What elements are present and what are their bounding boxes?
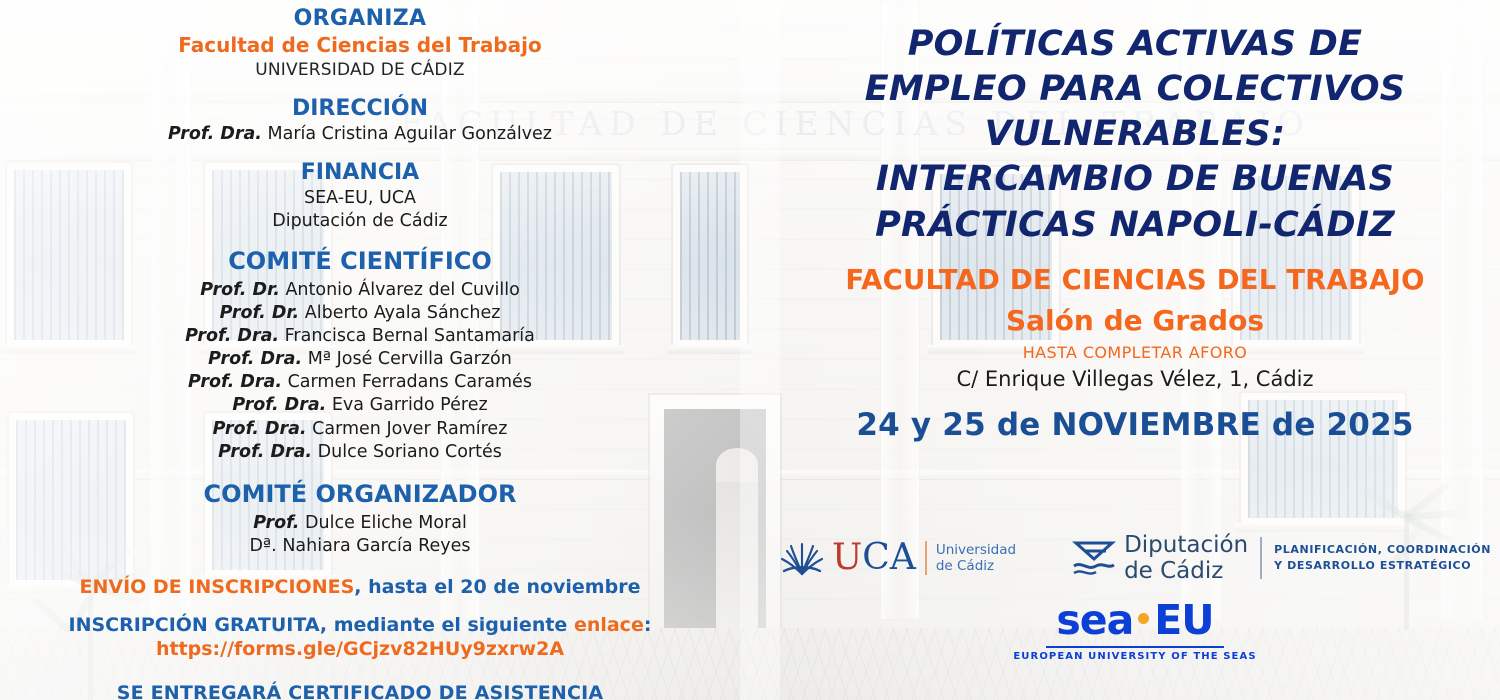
seaeu-tagline: EUROPEAN UNIVERSITY OF THE SEAS bbox=[1013, 651, 1256, 662]
member-title: Dª. bbox=[249, 536, 276, 556]
seaeu-eu-text: EU bbox=[1154, 600, 1213, 641]
certificado-note: SE ENTREGARÁ CERTIFICADO DE ASISTENCIA bbox=[0, 682, 720, 700]
member-title: Prof. Dr. bbox=[200, 280, 280, 300]
logo-row-primary: UCA Universidad de Cádiz Di bbox=[770, 532, 1500, 584]
member-title: Prof. Dra. bbox=[218, 442, 312, 462]
member-name: Antonio Álvarez del Cuvillo bbox=[285, 280, 519, 300]
direccion-person-title: Prof. Dra. bbox=[168, 124, 262, 144]
seaeu-dot-icon bbox=[1138, 613, 1149, 624]
title-line: POLÍTICAS ACTIVAS DE bbox=[770, 22, 1500, 67]
organiza-university: UNIVERSIDAD DE CÁDIZ bbox=[0, 60, 720, 80]
direccion-person-name: María Cristina Aguilar Gonzálvez bbox=[268, 124, 552, 144]
financia-line: SEA-EU, UCA bbox=[0, 188, 720, 208]
logo-row-secondary: sea EU EUROPEAN UNIVERSITY OF THE SEAS bbox=[770, 600, 1500, 662]
member-name: Dulce Soriano Cortés bbox=[318, 442, 502, 462]
title-line: VULNERABLES: bbox=[770, 112, 1500, 157]
member-title: Prof. Dra. bbox=[188, 372, 282, 392]
title-line: EMPLEO PARA COLECTIVOS bbox=[770, 67, 1500, 112]
uca-subtitle-line2: de Cádiz bbox=[936, 558, 1016, 574]
title-line: INTERCAMBIO DE BUENAS bbox=[770, 157, 1500, 202]
diputacion-department: PLANIFICACIÓN, COORDINACIÓN Y DESARROLLO… bbox=[1274, 542, 1491, 574]
gratuita-label: INSCRIPCIÓN GRATUITA, mediante el siguie… bbox=[69, 614, 574, 636]
venue-capacity: HASTA COMPLETAR AFORO bbox=[770, 343, 1500, 362]
event-date: 24 y 25 de NOVIEMBRE de 2025 bbox=[770, 407, 1500, 443]
member-title: Prof. Dra. bbox=[208, 349, 302, 369]
uca-subtitle: Universidad de Cádiz bbox=[936, 542, 1016, 575]
diputacion-wordmark: Diputación de Cádiz bbox=[1124, 532, 1248, 584]
page-title: POLÍTICAS ACTIVAS DE EMPLEO PARA COLECTI… bbox=[770, 22, 1500, 248]
envio-inscripciones: ENVÍO DE INSCRIPCIONES, hasta el 20 de n… bbox=[0, 576, 720, 598]
member-name: Nahiara García Reyes bbox=[282, 536, 470, 556]
member-title: Prof. Dra. bbox=[213, 419, 307, 439]
list-item: Prof. Dra. Mª José Cervilla Garzón bbox=[0, 348, 720, 371]
member-title: Prof. bbox=[253, 513, 299, 533]
comite-cientifico-heading: COMITÉ CIENTÍFICO bbox=[0, 247, 720, 275]
list-item: Prof. Dra. Eva Garrido Pérez bbox=[0, 394, 720, 417]
inscripcion-gratuita: INSCRIPCIÓN GRATUITA, mediante el siguie… bbox=[0, 614, 720, 636]
comite-organizador-heading: COMITÉ ORGANIZADOR bbox=[0, 480, 720, 508]
direccion-heading: DIRECCIÓN bbox=[0, 96, 720, 121]
member-name: Dulce Eliche Moral bbox=[305, 513, 467, 533]
list-item: Prof. Dra. Dulce Soriano Cortés bbox=[0, 441, 720, 464]
list-item: Dª. Nahiara García Reyes bbox=[0, 535, 720, 558]
event-poster: FACULTAD DE CIENCIAS DEL TRABAJO bbox=[0, 0, 1500, 700]
list-item: Prof. Dra. Carmen Ferradans Caramés bbox=[0, 371, 720, 394]
list-item: Prof. Dra. Francisca Bernal Santamaría bbox=[0, 325, 720, 348]
registration-block: ENVÍO DE INSCRIPCIONES, hasta el 20 de n… bbox=[0, 576, 720, 700]
member-name: Carmen Jover Ramírez bbox=[312, 419, 507, 439]
uca-letter-u: U bbox=[832, 537, 862, 578]
registration-url[interactable]: https://forms.gle/GCjzv82HUy9zxrw2A bbox=[0, 638, 720, 660]
diputacion-wave-icon bbox=[1072, 539, 1116, 577]
member-name: Eva Garrido Pérez bbox=[332, 395, 488, 415]
member-name: Alberto Ayala Sánchez bbox=[305, 303, 501, 323]
envio-label: ENVÍO DE INSCRIPCIONES bbox=[80, 576, 355, 598]
list-item: Prof. Dra. Carmen Jover Ramírez bbox=[0, 418, 720, 441]
member-name: Carmen Ferradans Caramés bbox=[288, 372, 532, 392]
member-name: Mª José Cervilla Garzón bbox=[308, 349, 512, 369]
member-name: Francisca Bernal Santamaría bbox=[285, 326, 535, 346]
financia-line: Diputación de Cádiz bbox=[0, 211, 720, 231]
member-title: Prof. Dr. bbox=[220, 303, 300, 323]
venue-room: Salón de Grados bbox=[770, 304, 1500, 337]
logo-block: UCA Universidad de Cádiz Di bbox=[770, 532, 1500, 662]
left-column: ORGANIZA Facultad de Ciencias del Trabaj… bbox=[0, 0, 720, 700]
comite-organizador-list: Prof. Dulce Eliche Moral Dª. Nahiara Gar… bbox=[0, 512, 720, 558]
enlace-word: enlace bbox=[574, 614, 644, 636]
uca-subtitle-line1: Universidad bbox=[936, 542, 1016, 558]
diputacion-line1: Diputación bbox=[1124, 532, 1248, 558]
comite-cientifico-list: Prof. Dr. Antonio Álvarez del Cuvillo Pr… bbox=[0, 279, 720, 464]
seaeu-rule bbox=[1046, 646, 1224, 648]
diputacion-dept-line2: Y DESARROLLO ESTRATÉGICO bbox=[1274, 558, 1491, 574]
gratuita-colon: : bbox=[644, 614, 652, 636]
uca-divider bbox=[925, 541, 927, 575]
right-column: POLÍTICAS ACTIVAS DE EMPLEO PARA COLECTI… bbox=[770, 0, 1500, 443]
seaeu-wordmark: sea EU bbox=[1056, 600, 1213, 641]
direccion-person: Prof. Dra. María Cristina Aguilar Gonzál… bbox=[0, 124, 720, 144]
uca-logo: UCA Universidad de Cádiz bbox=[779, 538, 1016, 578]
venue-faculty: FACULTAD DE CIENCIAS DEL TRABAJO bbox=[770, 264, 1500, 296]
financia-heading: FINANCIA bbox=[0, 160, 720, 185]
organiza-heading: ORGANIZA bbox=[0, 6, 720, 31]
seaeu-logo: sea EU EUROPEAN UNIVERSITY OF THE SEAS bbox=[1013, 600, 1256, 662]
envio-rest: , hasta el 20 de noviembre bbox=[354, 576, 640, 598]
organiza-faculty: Facultad de Ciencias del Trabajo bbox=[0, 33, 720, 57]
uca-wordmark: UCA bbox=[832, 540, 916, 576]
member-title: Prof. Dra. bbox=[185, 326, 279, 346]
poster-content: ORGANIZA Facultad de Ciencias del Trabaj… bbox=[0, 0, 1500, 700]
diputacion-dept-line1: PLANIFICACIÓN, COORDINACIÓN bbox=[1274, 542, 1491, 558]
diputacion-line2: de Cádiz bbox=[1124, 558, 1248, 584]
seaeu-sea-text: sea bbox=[1056, 600, 1133, 641]
venue-address: C/ Enrique Villegas Vélez, 1, Cádiz bbox=[770, 367, 1500, 391]
title-line: PRÁCTICAS NAPOLI-CÁDIZ bbox=[770, 203, 1500, 248]
list-item: Prof. Dulce Eliche Moral bbox=[0, 512, 720, 535]
uca-seagrass-icon bbox=[779, 538, 825, 578]
diputacion-logo: Diputación de Cádiz PLANIFICACIÓN, COORD… bbox=[1072, 532, 1491, 584]
list-item: Prof. Dr. Antonio Álvarez del Cuvillo bbox=[0, 279, 720, 302]
member-title: Prof. Dra. bbox=[232, 395, 326, 415]
diputacion-divider bbox=[1260, 537, 1262, 579]
list-item: Prof. Dr. Alberto Ayala Sánchez bbox=[0, 302, 720, 325]
uca-letters-ca: CA bbox=[862, 537, 916, 578]
